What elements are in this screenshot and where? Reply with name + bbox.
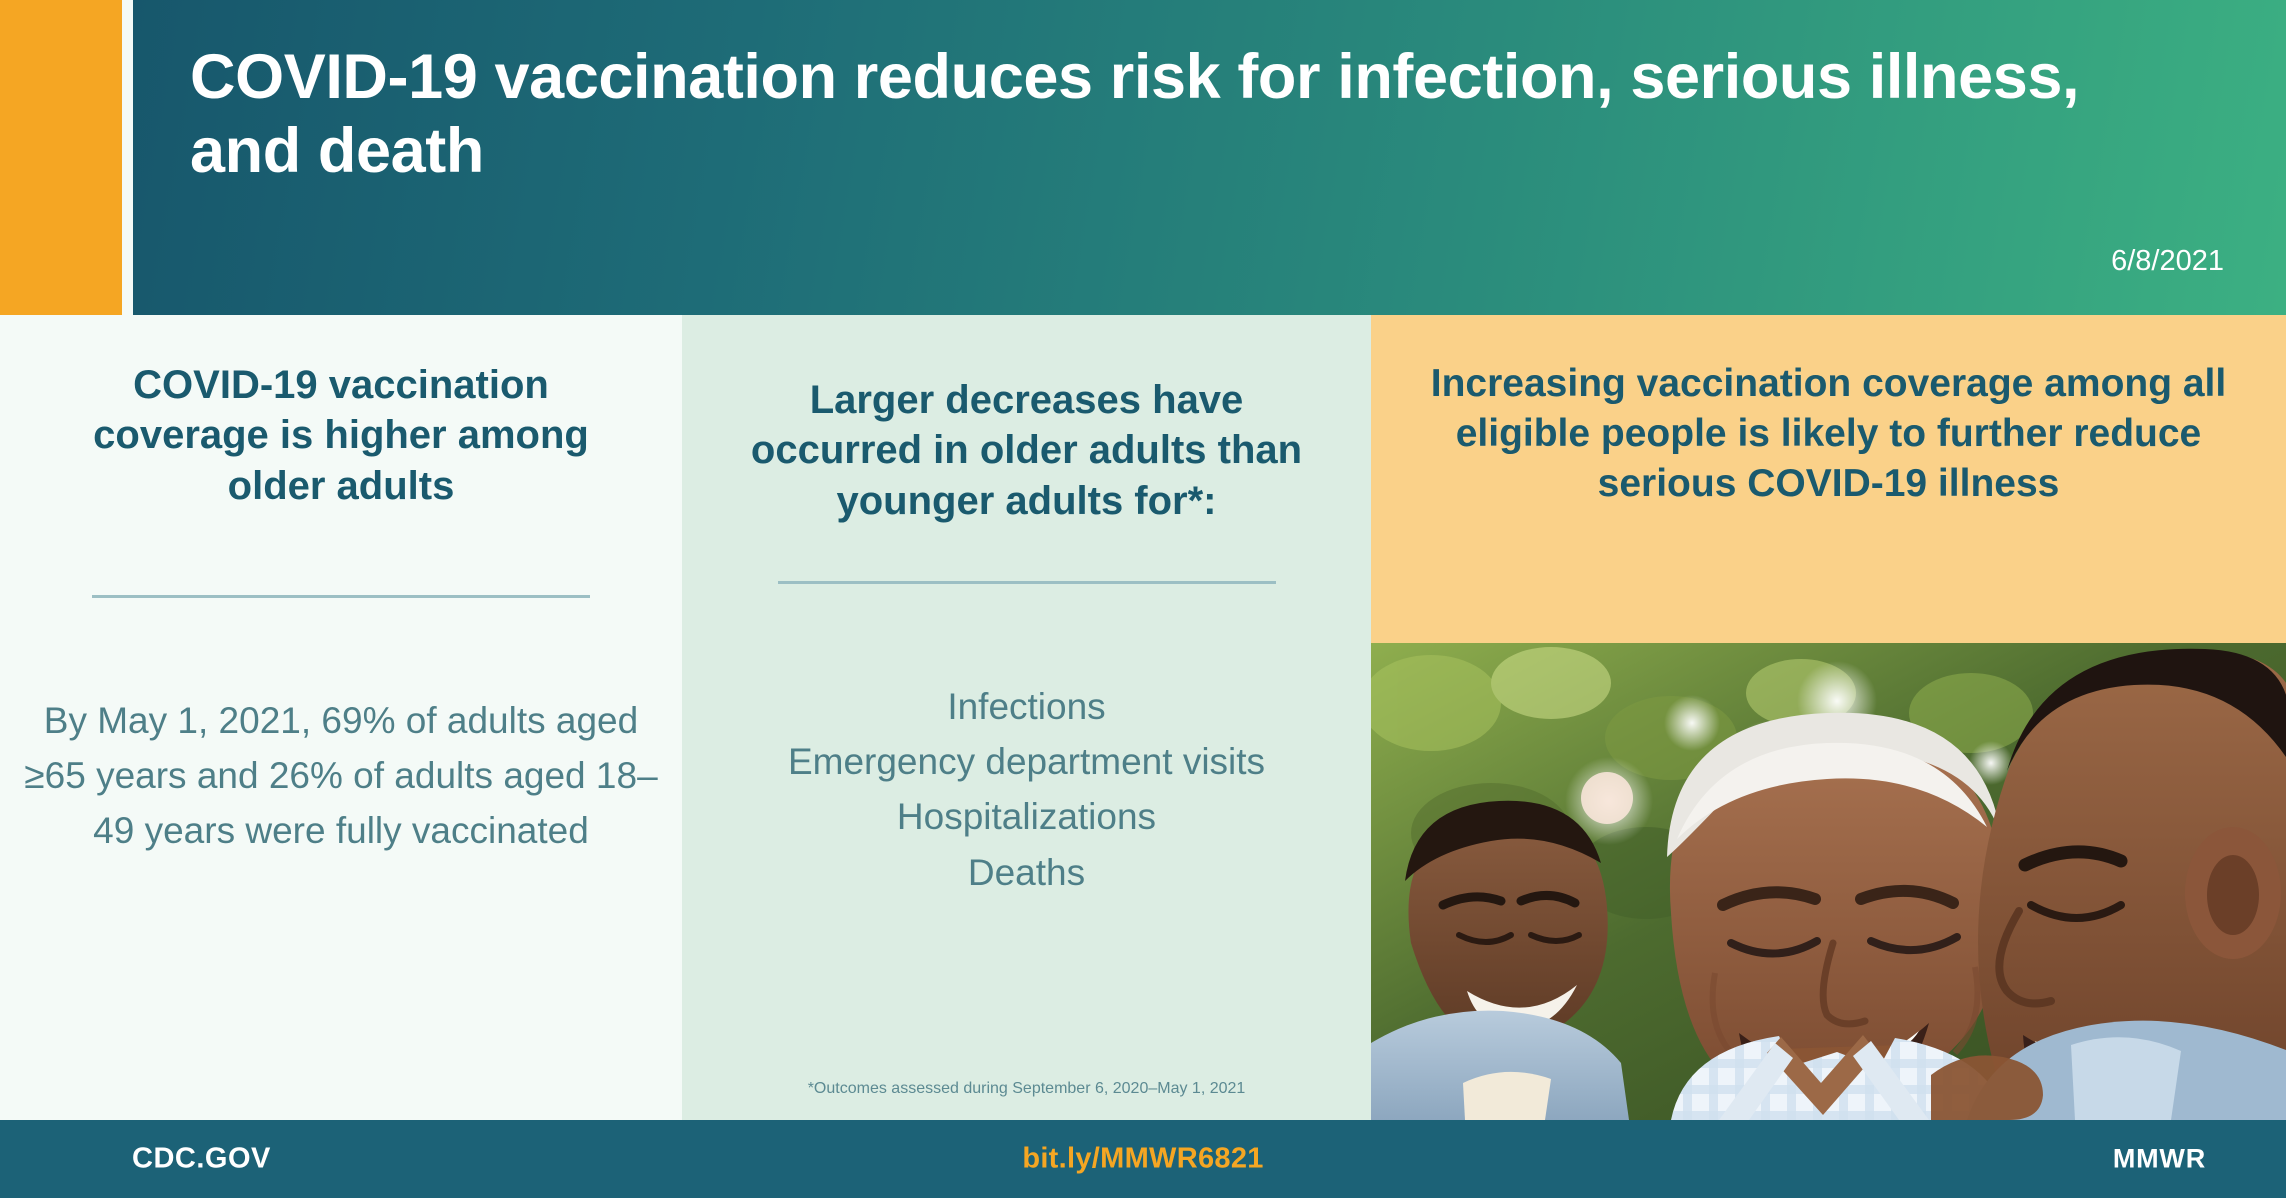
column-2-footnote: *Outcomes assessed during September 6, 2… [682, 1080, 1371, 1098]
column-3-heading: Increasing vaccination coverage among al… [1371, 315, 2286, 509]
mmwr-logo: MMWR [2113, 1144, 2206, 1175]
header-band: COVID-19 vaccination reduces risk for in… [0, 0, 2286, 315]
column-call-to-action: Increasing vaccination coverage among al… [1371, 315, 2286, 1120]
infographic-slide: COVID-19 vaccination reduces risk for in… [0, 0, 2286, 1198]
column-2-outcome-list: Infections Emergency department visits H… [682, 584, 1371, 900]
column-1-body: By May 1, 2021, 69% of adults aged ≥65 y… [0, 598, 682, 858]
publication-date: 6/8/2021 [2111, 245, 2224, 278]
list-item: Hospitalizations [704, 789, 1349, 844]
three-smiling-men-outdoors-photo [1371, 643, 2286, 1120]
list-item: Emergency department visits [704, 734, 1349, 789]
column-outcome-decreases: Larger decreases have occurred in older … [682, 315, 1371, 1120]
list-item: Infections [704, 679, 1349, 734]
list-item: Deaths [704, 845, 1349, 900]
footer-cdc-gov[interactable]: CDC.GOV [132, 1143, 271, 1176]
column-2-heading: Larger decreases have occurred in older … [682, 315, 1371, 526]
content-columns: COVID-19 vaccination coverage is higher … [0, 315, 2286, 1120]
footer-bar: CDC.GOV bit.ly/MMWR6821 MMWR [0, 1120, 2286, 1198]
page-title: COVID-19 vaccination reduces risk for in… [190, 40, 2150, 189]
footer-bitly-link[interactable]: bit.ly/MMWR6821 [1022, 1143, 1263, 1176]
column-vaccination-coverage: COVID-19 vaccination coverage is higher … [0, 315, 682, 1120]
column-1-heading: COVID-19 vaccination coverage is higher … [0, 315, 682, 511]
header-accent-bar [0, 0, 122, 315]
